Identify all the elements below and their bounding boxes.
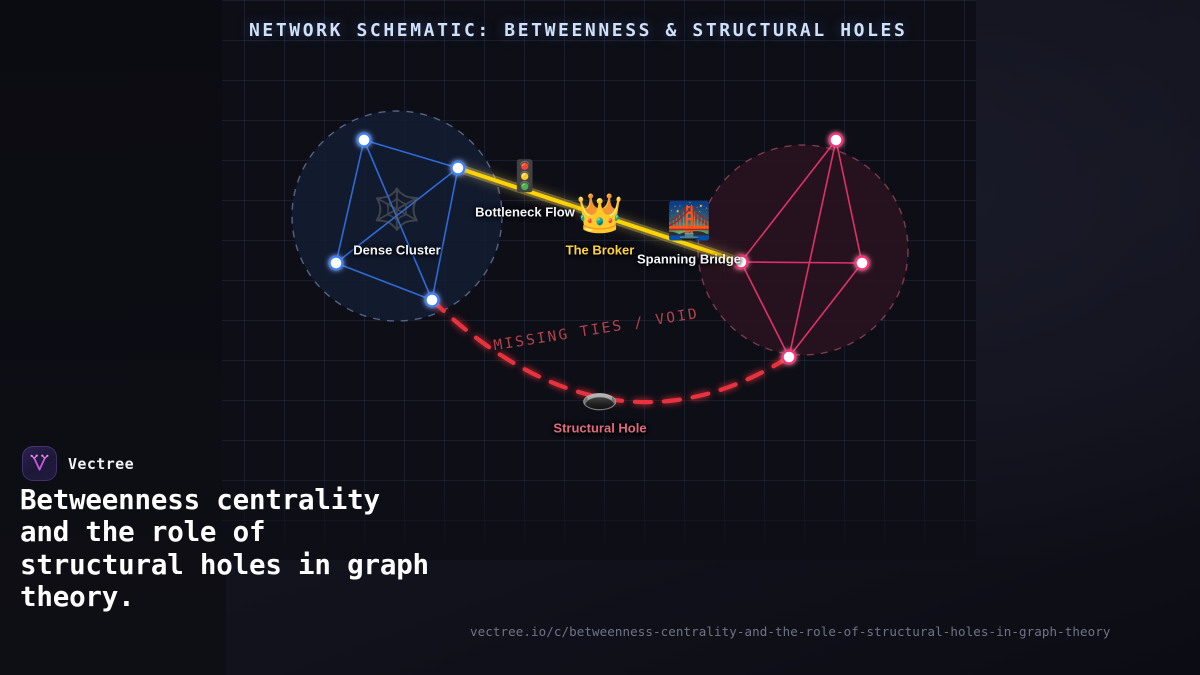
brand-name: Vectree <box>68 455 134 473</box>
node-r1[interactable] <box>830 134 843 147</box>
traffic-light-emoji: 🚦 <box>506 162 543 192</box>
crown-emoji: 👑 <box>576 194 623 232</box>
spider-web-emoji: 🕸️ <box>372 190 422 230</box>
right-cluster-edge <box>741 262 862 263</box>
structural-hole-annotation-label: Structural Hole <box>553 421 646 436</box>
vectree-mark-icon <box>29 453 50 474</box>
left-cluster-label: Dense Cluster <box>353 243 440 258</box>
missing-ties-label: MISSING TIES / VOID <box>493 306 701 354</box>
node-l4[interactable] <box>426 294 439 307</box>
spanning-bridge-annotation-label: Spanning Bridge <box>637 252 741 267</box>
source-url: vectree.io/c/betweenness-centrality-and-… <box>470 624 1111 639</box>
node-l3[interactable] <box>330 257 343 270</box>
broker-annotation-label: The Broker <box>566 243 635 258</box>
hole-emoji: 🕳️ <box>581 383 618 413</box>
vectree-logo <box>22 446 57 481</box>
node-l2[interactable] <box>452 162 465 175</box>
bottleneck-annotation-label: Bottleneck Flow <box>475 205 575 220</box>
node-r4[interactable] <box>783 351 796 364</box>
bridge-at-night-emoji: 🌉 <box>667 204 712 240</box>
brand-row: Vectree <box>22 446 134 481</box>
node-l1[interactable] <box>358 134 371 147</box>
right-cluster-boundary <box>698 145 908 355</box>
node-r3[interactable] <box>856 257 869 270</box>
page-headline: Betweenness centrality and the role of s… <box>20 484 440 614</box>
